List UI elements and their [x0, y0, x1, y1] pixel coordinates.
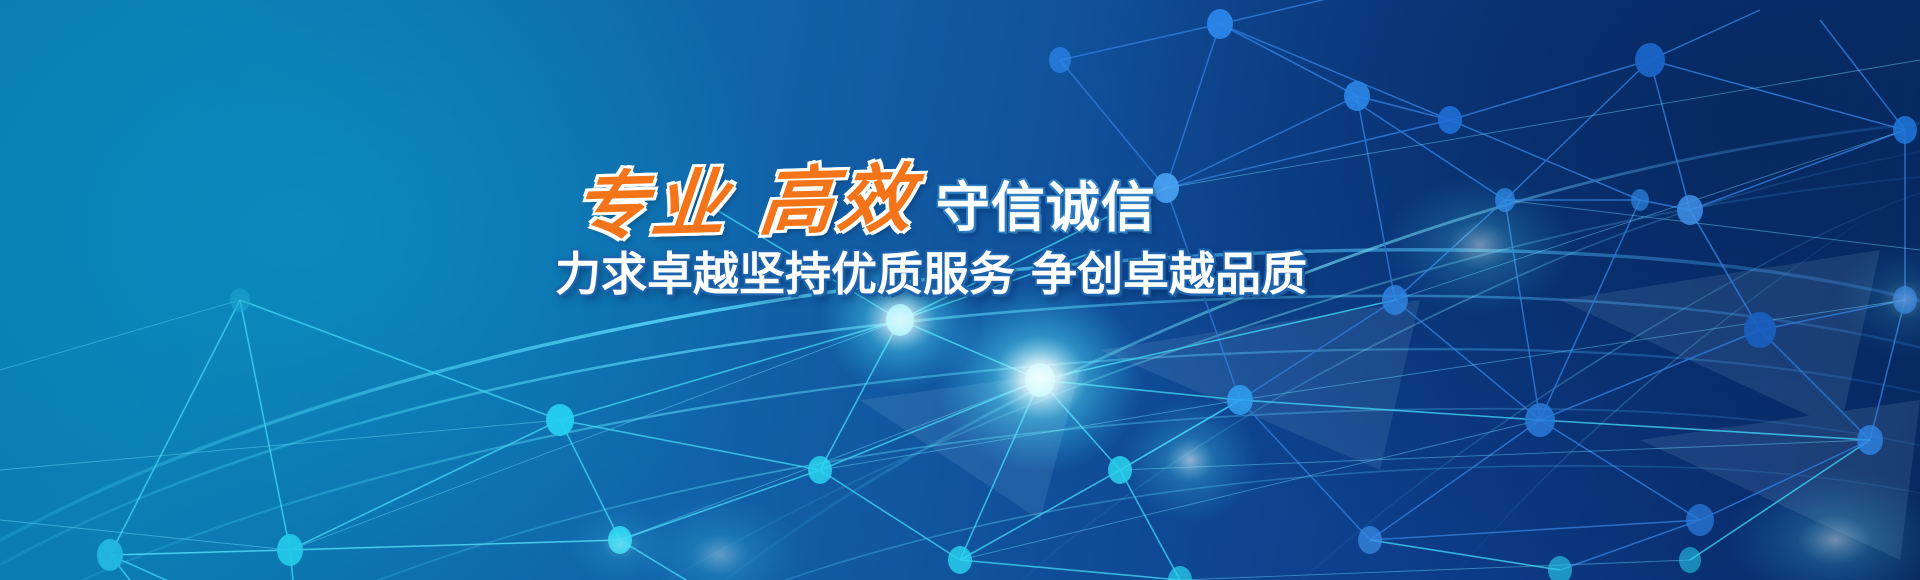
slogan-text-block: 专业 高效 守信诚信 力求卓越坚持优质服务 争创卓越品质 [555, 148, 1175, 298]
headline-plain-text: 守信诚信 [936, 181, 1156, 235]
subline-text: 力求卓越坚持优质服务 争创卓越品质 [555, 250, 1175, 298]
headline-row: 专业 高效 守信诚信 [555, 148, 1175, 240]
hero-banner: 专业 高效 守信诚信 力求卓越坚持优质服务 争创卓越品质 [0, 0, 1920, 580]
headline-brush-text: 专业 高效 [570, 161, 940, 244]
